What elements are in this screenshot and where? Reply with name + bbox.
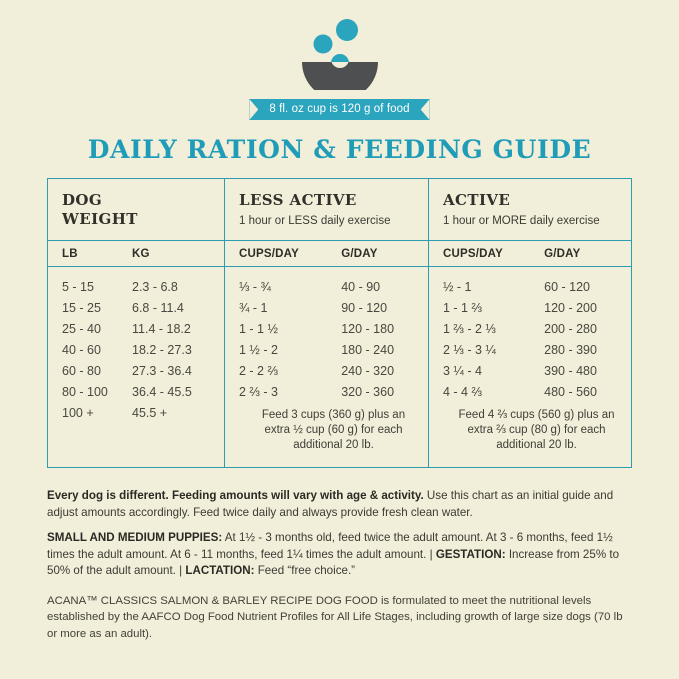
table-row: 2 - 2 ⅔240 - 320 <box>239 361 428 382</box>
table-row: ⅓ - ¾40 - 90 <box>239 277 428 298</box>
cell-lb: 100 + <box>62 403 132 424</box>
cell-kg: 6.8 - 11.4 <box>132 298 222 319</box>
table-row: 5 - 152.3 - 6.8 <box>62 277 224 298</box>
cell-less-cups: 2 ⅔ - 3 <box>239 382 341 403</box>
cell-less-g: 90 - 120 <box>341 298 428 319</box>
cell-active-g: 280 - 390 <box>544 340 630 361</box>
cell-active-g: 480 - 560 <box>544 382 630 403</box>
column-header-kg: KG <box>132 248 222 260</box>
column-header-less-g-day: G/DAY <box>341 248 428 260</box>
table-body-less-active: ⅓ - ¾40 - 90¾ - 190 - 1201 - 1 ½120 - 18… <box>224 267 428 467</box>
cell-kg: 45.5 + <box>132 403 222 424</box>
table-row: 1 ½ - 2180 - 240 <box>239 340 428 361</box>
column-headers-active: CUPS/DAY G/DAY <box>428 241 630 266</box>
cell-lb: 5 - 15 <box>62 277 132 298</box>
table-body: 5 - 152.3 - 6.815 - 256.8 - 11.425 - 401… <box>48 267 631 467</box>
cup-conversion-banner: 8 fl. oz cup is 120 g of food <box>0 99 679 120</box>
cell-less-cups: ¾ - 1 <box>239 298 341 319</box>
guidance-paragraphs: Every dog is different. Feeding amounts … <box>47 488 633 642</box>
cell-active-g: 390 - 480 <box>544 361 630 382</box>
group-header-active: ACTIVE 1 hour or MORE daily exercise <box>428 179 630 240</box>
cell-active-cups: 1 ⅔ - 2 ⅓ <box>443 319 544 340</box>
cell-kg: 36.4 - 45.5 <box>132 382 222 403</box>
table-row: 1 - 1 ⅔120 - 200 <box>443 298 630 319</box>
table-row: 60 - 8027.3 - 36.4 <box>62 361 224 382</box>
table-row: ½ - 160 - 120 <box>443 277 630 298</box>
label-gestation: GESTATION: <box>436 548 506 561</box>
cell-active-cups: 4 - 4 ⅔ <box>443 382 544 403</box>
cell-less-g: 320 - 360 <box>341 382 428 403</box>
cell-active-g: 120 - 200 <box>544 298 630 319</box>
table-row: 2 ⅓ - 3 ¼280 - 390 <box>443 340 630 361</box>
table-row: 1 - 1 ½120 - 180 <box>239 319 428 340</box>
table-column-header-row: LB KG CUPS/DAY G/DAY CUPS/DAY G/DAY <box>48 241 631 267</box>
text-lactation: Feed “free choice.” <box>255 564 356 577</box>
table-row: 2 ⅔ - 3320 - 360 <box>239 382 428 403</box>
table-row: 4 - 4 ⅔480 - 560 <box>443 382 630 403</box>
dog-bowl-icon <box>285 18 395 90</box>
table-row: 15 - 256.8 - 11.4 <box>62 298 224 319</box>
cell-active-g: 60 - 120 <box>544 277 630 298</box>
note-active: Feed 4 ⅔ cups (560 g) plus an extra ⅔ cu… <box>443 404 630 459</box>
paragraph-aafco-statement: ACANA™ CLASSICS SALMON & BARLEY RECIPE D… <box>47 593 633 643</box>
group-title-active: ACTIVE <box>443 191 630 210</box>
cell-active-cups: ½ - 1 <box>443 277 544 298</box>
column-header-active-g-day: G/DAY <box>544 248 630 260</box>
column-header-lb: LB <box>62 248 132 260</box>
cell-less-g: 180 - 240 <box>341 340 428 361</box>
page-title: DAILY RATION & FEEDING GUIDE <box>0 135 679 164</box>
cell-active-cups: 2 ⅓ - 3 ¼ <box>443 340 544 361</box>
group-header-less-active: LESS ACTIVE 1 hour or LESS daily exercis… <box>224 179 428 240</box>
group-header-dog-weight: DOG WEIGHT <box>48 179 224 240</box>
cell-kg: 18.2 - 27.3 <box>132 340 222 361</box>
cell-kg: 11.4 - 18.2 <box>132 319 222 340</box>
group-title-less-active: LESS ACTIVE <box>239 191 428 210</box>
table-row: 25 - 4011.4 - 18.2 <box>62 319 224 340</box>
table-row: 1 ⅔ - 2 ⅓200 - 280 <box>443 319 630 340</box>
group-title-line2: WEIGHT <box>62 210 138 228</box>
cell-kg: 2.3 - 6.8 <box>132 277 222 298</box>
feeding-guide-page: 8 fl. oz cup is 120 g of food DAILY RATI… <box>0 0 679 679</box>
table-row: 3 ¼ - 4390 - 480 <box>443 361 630 382</box>
cell-kg: 27.3 - 36.4 <box>132 361 222 382</box>
paragraph-general-lead: Every dog is different. Feeding amounts … <box>47 489 424 502</box>
paragraph-life-stages: SMALL AND MEDIUM PUPPIES: At 1½ - 3 mont… <box>47 530 633 580</box>
column-header-active-cups-day: CUPS/DAY <box>443 248 544 260</box>
cell-less-cups: ⅓ - ¾ <box>239 277 341 298</box>
group-subtitle-active: 1 hour or MORE daily exercise <box>443 214 630 228</box>
label-lactation: LACTATION: <box>185 564 254 577</box>
cell-lb: 80 - 100 <box>62 382 132 403</box>
column-headers-less-active: CUPS/DAY G/DAY <box>224 241 428 266</box>
cell-less-cups: 1 - 1 ½ <box>239 319 341 340</box>
cup-conversion-label: 8 fl. oz cup is 120 g of food <box>249 99 429 120</box>
table-row: 80 - 10036.4 - 45.5 <box>62 382 224 403</box>
table-row: 40 - 6018.2 - 27.3 <box>62 340 224 361</box>
note-less-active: Feed 3 cups (360 g) plus an extra ½ cup … <box>239 404 428 459</box>
cell-lb: 40 - 60 <box>62 340 132 361</box>
cell-less-g: 240 - 320 <box>341 361 428 382</box>
cell-active-cups: 3 ¼ - 4 <box>443 361 544 382</box>
group-title-line1: DOG <box>62 191 102 209</box>
table-group-header-row: DOG WEIGHT LESS ACTIVE 1 hour or LESS da… <box>48 179 631 241</box>
table-row: ¾ - 190 - 120 <box>239 298 428 319</box>
feeding-table: DOG WEIGHT LESS ACTIVE 1 hour or LESS da… <box>47 178 632 468</box>
paragraph-general: Every dog is different. Feeding amounts … <box>47 488 633 521</box>
cell-less-cups: 1 ½ - 2 <box>239 340 341 361</box>
cell-lb: 15 - 25 <box>62 298 132 319</box>
cell-active-cups: 1 - 1 ⅔ <box>443 298 544 319</box>
cell-lb: 60 - 80 <box>62 361 132 382</box>
table-body-weight: 5 - 152.3 - 6.815 - 256.8 - 11.425 - 401… <box>48 267 224 467</box>
cell-less-cups: 2 - 2 ⅔ <box>239 361 341 382</box>
cell-active-g: 200 - 280 <box>544 319 630 340</box>
table-row: 100 +45.5 + <box>62 403 224 424</box>
column-headers-weight: LB KG <box>48 241 224 266</box>
cell-lb: 25 - 40 <box>62 319 132 340</box>
table-body-active: ½ - 160 - 1201 - 1 ⅔120 - 2001 ⅔ - 2 ⅓20… <box>428 267 630 467</box>
cell-less-g: 120 - 180 <box>341 319 428 340</box>
group-subtitle-less-active: 1 hour or LESS daily exercise <box>239 214 428 228</box>
column-header-less-cups-day: CUPS/DAY <box>239 248 341 260</box>
dog-bowl-illustration <box>0 18 679 90</box>
label-puppies: SMALL AND MEDIUM PUPPIES: <box>47 531 222 544</box>
cell-less-g: 40 - 90 <box>341 277 428 298</box>
